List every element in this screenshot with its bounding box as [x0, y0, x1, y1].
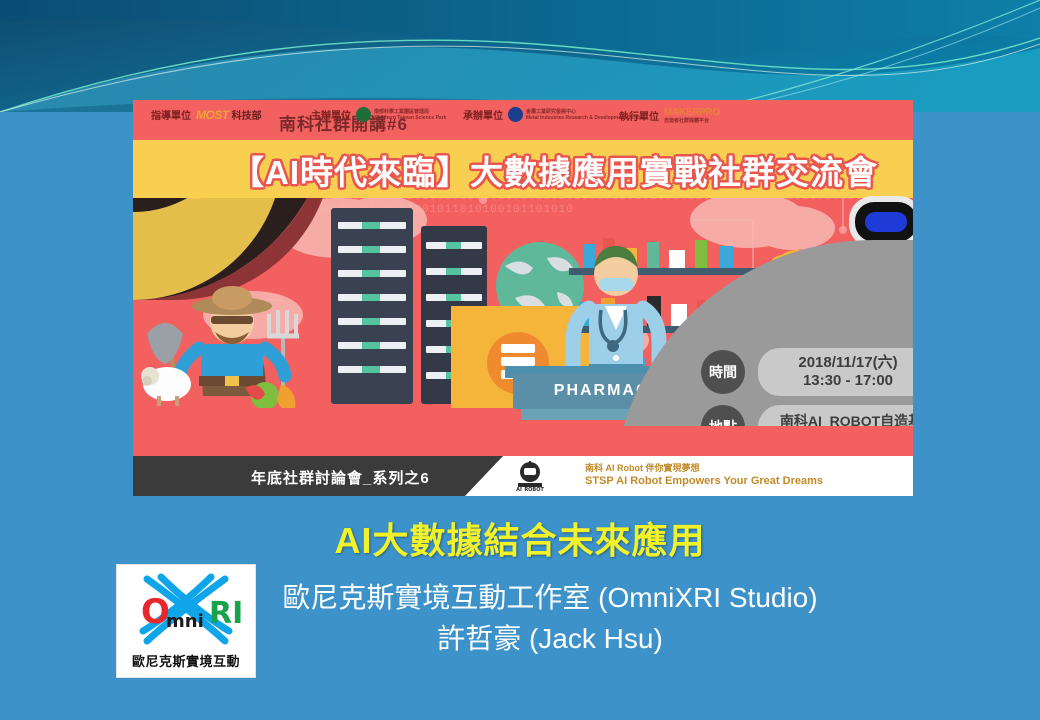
- sponsor-role-label: 執行單位: [619, 108, 659, 123]
- poster-main-title: 【AI時代來臨】大數據應用實戰社群交流會: [231, 146, 911, 194]
- sponsor-name-en: Southern Taiwan Science Park: [374, 115, 446, 121]
- omnixri-logo: O mni RI 歐尼克斯實境互動: [116, 564, 256, 678]
- slogan-en: STSP AI Robot Empowers Your Great Dreams: [585, 474, 823, 488]
- svg-text:AI_ROBOT: AI_ROBOT: [516, 487, 544, 491]
- stsp-robot-logo-icon: AI_ROBOT: [491, 461, 569, 491]
- series-label: 年底社群討論會_系列之6: [251, 467, 430, 488]
- event-poster: 0101010101101001010110101001011010100101…: [133, 100, 913, 496]
- omnixri-logo-mark: O mni RI: [117, 565, 255, 653]
- time-value: 2018/11/17(六) 13:30 - 17:00: [758, 348, 913, 396]
- sponsor-organizer: 主辦單位 南部科學工業園區管理局 Southern Taiwan Science…: [311, 107, 446, 122]
- slide-headline: AI大數據結合未來應用: [0, 512, 1040, 564]
- logo-caption: 歐尼克斯實境互動: [117, 651, 255, 670]
- slide: 0101010101101001010110101001011010100101…: [0, 0, 1040, 720]
- speaker-organization: 歐尼克斯實境互動工作室 (OmniXRI Studio): [240, 578, 860, 618]
- sponsor-name-cn: 科技部: [232, 107, 262, 122]
- sponsor-implementer: 執行單位 MAKERPRO 自造者社群媒體平台: [619, 107, 720, 124]
- time-date: 2018/11/17(六): [798, 354, 897, 372]
- sponsor-executor: 承辦單位 金屬工業研究發展中心 Metal Industries Researc…: [463, 107, 643, 122]
- sponsor-strip: [133, 426, 913, 456]
- sponsor-advisor: 指導單位 MOST 科技部: [151, 107, 262, 122]
- sponsor-role-label: 指導單位: [151, 107, 191, 122]
- sponsor-name-cn: 自造者社群媒體平台: [664, 118, 720, 124]
- makerpro-logo-icon: MAKERPRO 自造者社群媒體平台: [664, 107, 720, 124]
- wave-svg: [0, 0, 1040, 112]
- sponsor-role-label: 主辦單位: [311, 107, 351, 122]
- most-logo-icon: MOST 科技部: [196, 107, 262, 122]
- speaker-name: 許哲豪 (Jack Hsu): [240, 618, 860, 660]
- header-wave-decoration: [0, 0, 1040, 112]
- time-range: 13:30 - 17:00: [803, 372, 893, 390]
- sponsor-name-en: MAKERPRO: [664, 107, 720, 118]
- speaker-block: 歐尼克斯實境互動工作室 (OmniXRI Studio) 許哲豪 (Jack H…: [240, 578, 860, 660]
- logo-letter-mni: mni: [166, 611, 204, 632]
- logo-letter-ri: RI: [209, 596, 243, 631]
- sponsor-role-label: 承辦單位: [463, 107, 503, 122]
- time-label: 時間: [701, 350, 745, 394]
- farmer-illustration: [141, 248, 351, 408]
- stsp-logo-icon: 南部科學工業園區管理局 Southern Taiwan Science Park: [356, 107, 446, 122]
- footer-slogan: 南科 AI Robot 伴你實現夢想 STSP AI Robot Empower…: [585, 462, 823, 488]
- slogan-zh: 南科 AI Robot 伴你實現夢想: [585, 462, 823, 474]
